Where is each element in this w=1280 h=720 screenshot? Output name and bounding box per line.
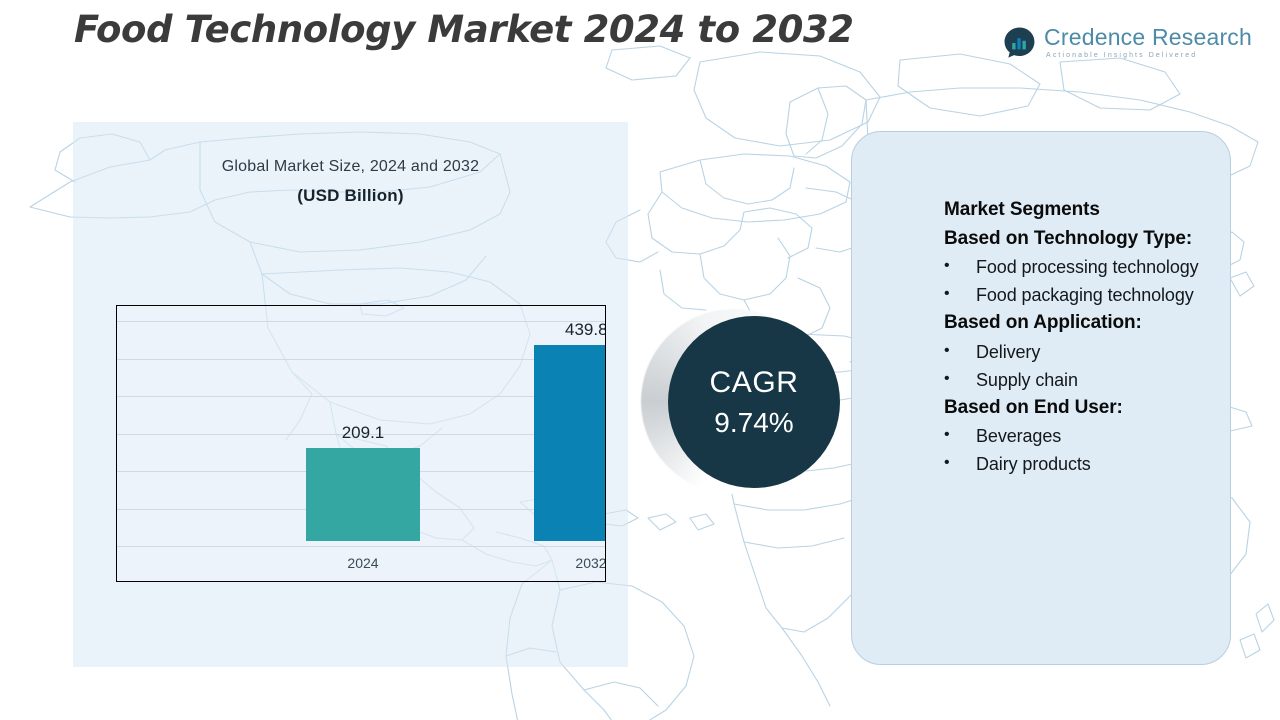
segment-item-label: Dairy products (976, 450, 1220, 478)
bar-2032 (534, 345, 606, 541)
market-segments-panel: Market SegmentsBased on Technology Type:… (851, 131, 1231, 665)
brand-logo: Credence Research Actionable Insights De… (1003, 26, 1252, 59)
bar-chart-plot: 209.12024439.832032 (116, 305, 606, 582)
gridline (117, 546, 605, 547)
cagr-label: CAGR (709, 366, 798, 400)
gridline (117, 396, 605, 397)
segment-list-item: •Food processing technology (944, 253, 1220, 281)
chart-bubble-icon (1003, 26, 1036, 59)
segment-list-item: •Delivery (944, 338, 1220, 366)
bullet-icon: • (944, 338, 976, 364)
bullet-icon: • (944, 281, 976, 307)
bullet-icon: • (944, 450, 976, 476)
segment-group-title: Based on Application: (944, 309, 1220, 338)
infographic-page: Food Technology Market 2024 to 2032 Cred… (0, 0, 1280, 720)
brand-tagline: Actionable Insights Delivered (1046, 52, 1252, 59)
segment-item-label: Food packaging technology (976, 281, 1220, 309)
chart-heading: Global Market Size, 2024 and 2032 (USD B… (73, 158, 628, 206)
bar-2024 (306, 448, 420, 541)
segment-list-item: •Dairy products (944, 450, 1220, 478)
segment-list-item: •Supply chain (944, 366, 1220, 394)
segment-item-label: Supply chain (976, 366, 1220, 394)
chart-units: (USD Billion) (73, 186, 628, 206)
category-label-2032: 2032 (531, 555, 606, 571)
market-segments-content: Market SegmentsBased on Technology Type:… (944, 196, 1220, 478)
cagr-circle: CAGR 9.74% (668, 316, 840, 488)
segment-group-title: Based on Technology Type: (944, 225, 1220, 254)
chart-subtitle: Global Market Size, 2024 and 2032 (73, 158, 628, 176)
bullet-icon: • (944, 253, 976, 279)
bullet-icon: • (944, 422, 976, 448)
bar-value-label: 439.83 (521, 320, 606, 340)
segment-list-item: •Food packaging technology (944, 281, 1220, 309)
bar-value-label: 209.1 (293, 423, 433, 443)
segments-heading: Market Segments (944, 196, 1220, 225)
segment-item-label: Food processing technology (976, 253, 1220, 281)
segment-item-label: Beverages (976, 422, 1220, 450)
brand-name: Credence Research (1044, 26, 1252, 49)
segment-list-item: •Beverages (944, 422, 1220, 450)
segment-group-title: Based on End User: (944, 394, 1220, 423)
page-title: Food Technology Market 2024 to 2032 (74, 8, 854, 51)
bullet-icon: • (944, 366, 976, 392)
cagr-value: 9.74% (714, 407, 793, 439)
segment-item-label: Delivery (976, 338, 1220, 366)
chart-panel: Global Market Size, 2024 and 2032 (USD B… (73, 122, 628, 667)
gridline (117, 359, 605, 360)
category-label-2024: 2024 (303, 555, 423, 571)
cagr-badge: CAGR 9.74% (641, 309, 871, 494)
